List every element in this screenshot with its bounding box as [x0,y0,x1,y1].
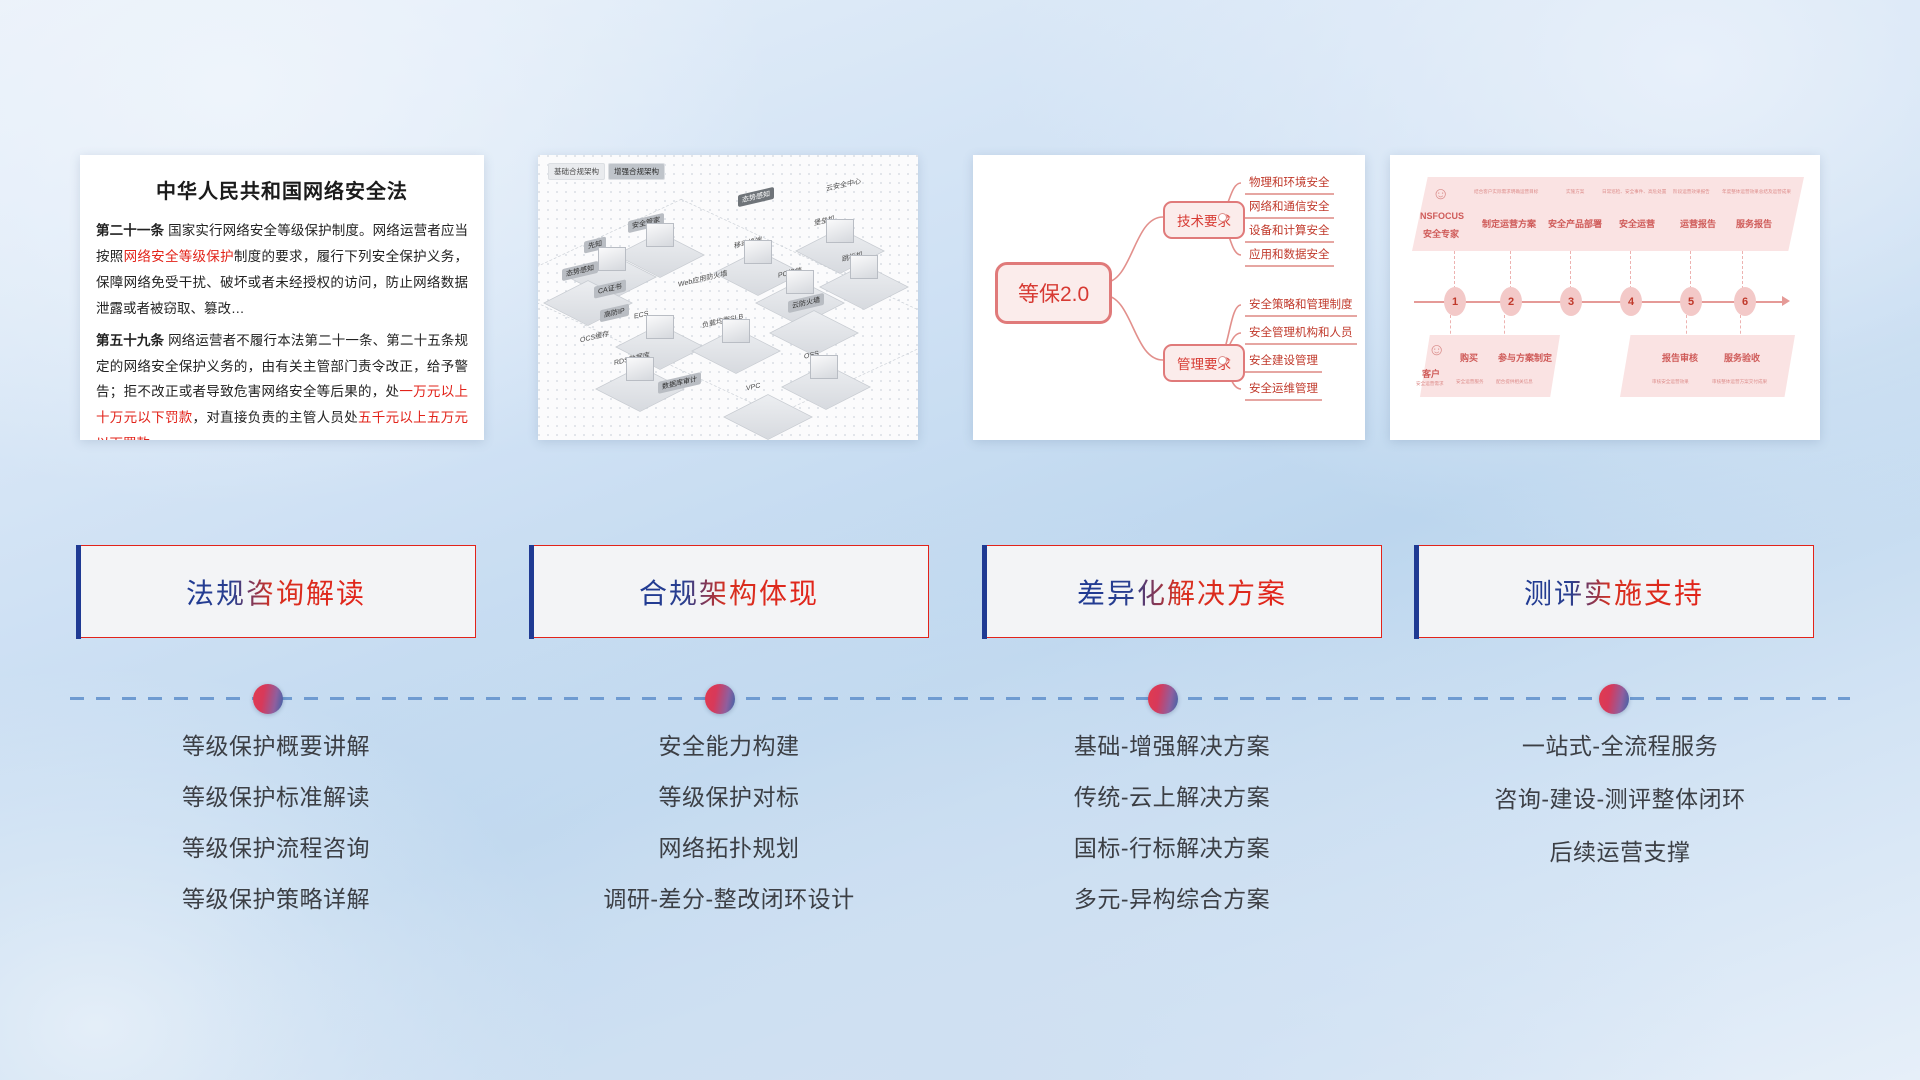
step-note: 年度整体运营效果总结及运营成果 [1722,189,1791,195]
card-compliance-architecture: 基础合规架构 增强合规架构 态势感知 安全管家 先知 态势感知 [538,155,918,440]
mindmap-root-node: 等保2.0 [995,262,1112,324]
law-article-21: 第二十一条 国家实行网络安全等级保护制度。网络运营者应当按照网络安全等级保护制度… [96,218,468,322]
timeline-step-2: 2 [1500,287,1522,316]
step-note: 日常巡检、安全事件、高危处置 [1602,189,1666,195]
list-item: 多元-异构综合方案 [962,888,1382,911]
step-title: 服务报告 [1736,217,1772,230]
mindmap-leaf: 物理和环境安全 [1245,173,1334,195]
bottom-step-title: 报告审核 [1662,351,1698,364]
bottom-step-note: 审核整体运营方案交付成果 [1712,379,1767,385]
bottom-step-note: 安全运营服务 [1456,379,1484,385]
timeline-axis [1414,301,1784,303]
nsfocus-timeline-diagram: ☺ NSFOCUS 安全专家 结合客户实际需求明确运营目标 制定运营方案 实施方… [1390,155,1820,440]
card-cybersecurity-law: 中华人民共和国网络安全法 第二十一条 国家实行网络安全等级保护制度。网络运营者应… [80,155,484,440]
law-article-21-label: 第二十一条 [96,223,164,238]
card-nsfocus-service-timeline: ☺ NSFOCUS 安全专家 结合客户实际需求明确运营目标 制定运营方案 实施方… [1390,155,1820,440]
section-heading-label: 测评实施支持 [1524,572,1704,612]
list-item: 安全能力构建 [519,735,939,758]
list-item: 等级保护标准解读 [66,786,486,809]
list-item: 传统-云上解决方案 [962,786,1382,809]
list-item: 等级保护流程咨询 [66,837,486,860]
list-item: 网络拓扑规划 [519,837,939,860]
timeline-marker-2[interactable] [705,684,735,714]
mindmap-branch-management: 管理要求 [1163,344,1245,382]
timeline-step-3: 3 [1560,287,1582,316]
timeline-marker-1[interactable] [253,684,283,714]
step-title: 安全运营 [1619,217,1655,230]
list-item: 国标-行标解决方案 [962,837,1382,860]
timeline-tick [1510,251,1511,289]
bottom-step-title: 参与方案制定 [1498,351,1552,364]
step-note: 实施方案 [1566,189,1584,195]
architecture-tab-group: 基础合规架构 增强合规架构 [548,163,665,180]
section-heading-compliance-architecture[interactable]: 合规架构体现 [529,545,929,638]
list-item: 等级保护概要讲解 [66,735,486,758]
section-heading-row: 法规咨询解读 合规架构体现 差异化解决方案 测评实施支持 [0,545,1920,645]
detail-list-assessment-support: 一站式-全流程服务 咨询-建设-测评整体闭环 后续运营支撑 [1410,735,1830,894]
bottom-step-title: 购买 [1460,351,1478,364]
bottom-step-note: 审核安全运营效果 [1652,379,1689,385]
bottom-step-note: 配合提供相关信息 [1496,379,1533,385]
mindmap-leaf: 设备和计算安全 [1245,221,1334,243]
timeline-tick [1570,251,1571,289]
section-heading-assessment-support[interactable]: 测评实施支持 [1414,545,1814,638]
expert-person-icon: ☺ [1432,185,1449,202]
illustration-card-row: 中华人民共和国网络安全法 第二十一条 国家实行网络安全等级保护制度。网络运营者应… [0,0,1920,440]
architecture-diagram: 基础合规架构 增强合规架构 态势感知 安全管家 先知 态势感知 [538,155,918,440]
timeline-step-4: 4 [1620,287,1642,316]
timeline-arrow-icon [1782,296,1790,306]
step-title: 运营报告 [1680,217,1716,230]
section-heading-label: 合规架构体现 [639,572,819,612]
mindmap-leaf: 安全管理机构和人员 [1245,323,1357,345]
mindmap-branch-dot [1218,213,1227,222]
law-card-body: 中华人民共和国网络安全法 第二十一条 国家实行网络安全等级保护制度。网络运营者应… [80,155,484,440]
list-item: 咨询-建设-测评整体闭环 [1410,788,1830,811]
law-article-59-label: 第五十九条 [96,333,164,348]
timeline-marker-4[interactable] [1599,684,1629,714]
nsfocus-customer-band-right [1620,335,1795,397]
mindmap-leaf: 安全策略和管理制度 [1245,295,1357,317]
list-item: 调研-差分-整改闭环设计 [519,888,939,911]
list-item: 后续运营支撑 [1410,841,1830,864]
timeline-step-6: 6 [1734,287,1756,316]
card-dengbao-mindmap: 等保2.0 技术要求 物理和环境安全 网络和通信安全 设备和计算安全 应用和数据… [973,155,1365,440]
timeline-tick [1690,251,1691,289]
step-note: 阶段运营效果报告 [1673,189,1710,195]
detail-list-compliance-architecture: 安全能力构建 等级保护对标 网络拓扑规划 调研-差分-整改闭环设计 [519,735,939,939]
step-title: 制定运营方案 [1482,217,1536,230]
mindmap-branch-technical: 技术要求 [1163,201,1245,239]
customer-note: 安全运营需求 [1416,381,1444,387]
law-title: 中华人民共和国网络安全法 [96,175,468,204]
section-heading-regulation-consulting[interactable]: 法规咨询解读 [76,545,476,638]
timeline-marker-3[interactable] [1148,684,1178,714]
step-note: 结合客户实际需求明确运营目标 [1474,189,1538,195]
detail-list-regulation-consulting: 等级保护概要讲解 等级保护标准解读 等级保护流程咨询 等级保护策略详解 [66,735,486,939]
mindmap-branch-dot [1218,356,1227,365]
architecture-tab-basic[interactable]: 基础合规架构 [548,163,605,180]
detail-list-differentiated-solution: 基础-增强解决方案 传统-云上解决方案 国标-行标解决方案 多元-异构综合方案 [962,735,1382,939]
timeline-tick [1742,251,1743,289]
timeline-tick [1454,251,1455,289]
customer-person-icon: ☺ [1428,341,1445,358]
dashed-timeline-line [70,697,1850,700]
timeline-step-1: 1 [1444,287,1466,316]
section-heading-differentiated-solution[interactable]: 差异化解决方案 [982,545,1382,638]
section-heading-label: 法规咨询解读 [186,572,366,612]
architecture-node-label: 态势感知 [738,187,774,207]
architecture-tab-enhanced[interactable]: 增强合规架构 [608,163,665,180]
mindmap-leaf: 网络和通信安全 [1245,197,1334,219]
section-detail-row: 等级保护概要讲解 等级保护标准解读 等级保护流程咨询 等级保护策略详解 安全能力… [0,735,1920,1025]
law-article-59: 第五十九条 网络运营者不履行本法第二十一条、第二十五条规定的网络安全保护义务的，… [96,328,468,440]
mindmap-diagram: 等保2.0 技术要求 物理和环境安全 网络和通信安全 设备和计算安全 应用和数据… [973,155,1365,440]
law-article-21-highlight: 网络安全等级保护 [124,249,234,264]
mindmap-leaf: 安全运维管理 [1245,379,1322,401]
timeline-tick [1630,251,1631,289]
architecture-node-label: OCS缓存 [576,327,613,348]
list-item: 基础-增强解决方案 [962,735,1382,758]
nsfocus-brand: NSFOCUS [1420,211,1464,221]
list-item: 一站式-全流程服务 [1410,735,1830,758]
mindmap-leaf: 应用和数据安全 [1245,245,1334,267]
poster-canvas: 中华人民共和国网络安全法 第二十一条 国家实行网络安全等级保护制度。网络运营者应… [0,0,1920,1080]
step-title: 安全产品部署 [1548,217,1602,230]
section-heading-label: 差异化解决方案 [1077,572,1287,612]
list-item: 等级保护对标 [519,786,939,809]
timeline-step-5: 5 [1680,287,1702,316]
bottom-step-title: 服务验收 [1724,351,1760,364]
mindmap-leaf: 安全建设管理 [1245,351,1322,373]
architecture-node-label: 云安全中心 [822,174,865,196]
nsfocus-expert-role: 安全专家 [1423,227,1459,240]
law-article-59-text-b: ，对直接负责的主管人员处 [193,410,358,425]
list-item: 等级保护策略详解 [66,888,486,911]
customer-label: 客户 [1422,367,1440,380]
